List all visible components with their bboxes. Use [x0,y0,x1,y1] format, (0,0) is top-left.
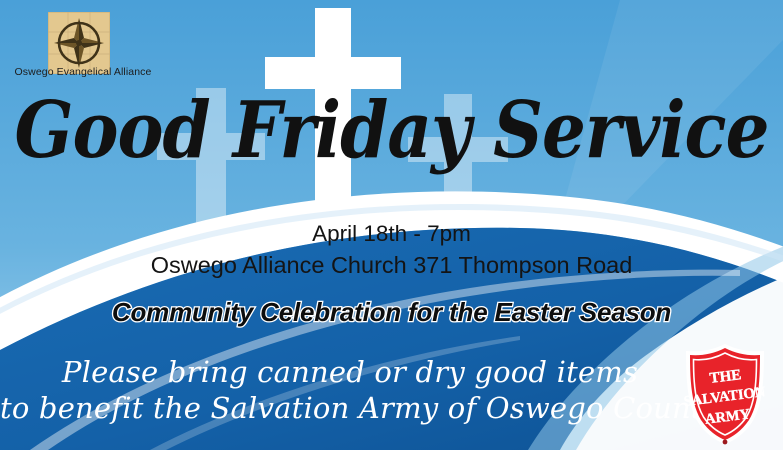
salvation-army-logo: THE SALVATION ARMY [681,342,769,445]
donation-request-line-1: Please bring canned or dry good items [0,355,700,389]
salvation-army-shield-icon: THE SALVATION ARMY [681,342,769,445]
good-friday-service-flyer: Oswego Evangelical Alliance Good Friday … [0,0,783,450]
compass-rose-icon [48,12,110,74]
sa-registered-dot [723,440,728,445]
page-title: Good Friday Service [0,92,783,169]
event-venue-address: Oswego Alliance Church 371 Thompson Road [0,252,783,279]
org-name-label: Oswego Evangelical Alliance [8,66,158,78]
community-tagline: Community Celebration for the Easter Sea… [0,297,783,328]
donation-request-line-2: to benefit the Salvation Army of Oswego … [0,391,700,425]
oswego-evangelical-alliance-logo [48,12,110,74]
event-datetime: April 18th - 7pm [0,221,783,247]
